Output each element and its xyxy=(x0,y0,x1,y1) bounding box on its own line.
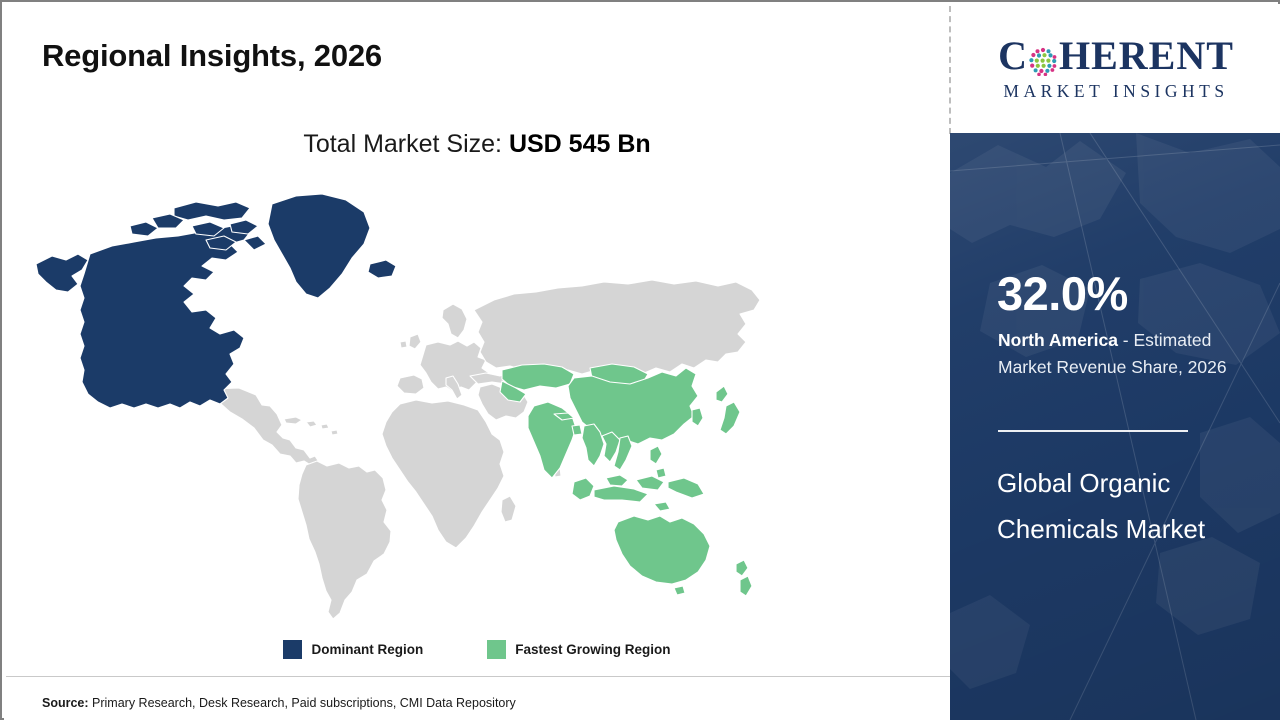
market-name: Global Organic Chemicals Market xyxy=(997,461,1247,552)
fastest-growing-regions xyxy=(500,364,752,596)
total-market-size: Total Market Size: USD 545 Bn xyxy=(4,130,950,159)
right-panel: 32.0% North America - Estimated Market R… xyxy=(950,133,1280,720)
brand-name-part1: C xyxy=(998,36,1028,76)
footer-divider xyxy=(6,676,952,677)
brand-name-part2: HERENT xyxy=(1059,36,1234,76)
legend-item-dominant[interactable]: Dominant Region xyxy=(283,640,423,659)
legend-item-fastest-growing[interactable]: Fastest Growing Region xyxy=(487,640,670,659)
source-text: Primary Research, Desk Research, Paid su… xyxy=(89,696,516,710)
world-map-svg xyxy=(34,182,834,622)
brand-tagline: MARKET INSIGHTS xyxy=(1003,81,1228,102)
legend-swatch-fastest-growing-icon xyxy=(487,640,506,659)
market-size-label: Total Market Size: xyxy=(303,130,509,158)
share-percentage: 32.0% xyxy=(997,270,1128,317)
infographic-frame: Regional Insights, 2026 Total Market Siz… xyxy=(0,0,1280,720)
dominant-regions xyxy=(36,194,396,408)
brand-logo[interactable]: C xyxy=(952,4,1280,133)
legend-swatch-dominant-icon xyxy=(283,640,302,659)
market-size-value: USD 545 Bn xyxy=(509,130,651,158)
map-legend: Dominant Region Fastest Growing Region xyxy=(4,640,950,659)
share-description: North America - Estimated Market Revenue… xyxy=(998,327,1264,380)
page-title: Regional Insights, 2026 xyxy=(42,38,382,74)
legend-label-dominant: Dominant Region xyxy=(311,642,423,657)
source-note: Source: Primary Research, Desk Research,… xyxy=(42,696,516,710)
right-panel-content: 32.0% North America - Estimated Market R… xyxy=(950,133,1280,720)
right-panel-divider xyxy=(998,430,1188,432)
left-panel: Regional Insights, 2026 Total Market Siz… xyxy=(4,4,950,720)
globe-dots-icon xyxy=(1028,43,1058,73)
share-region: North America xyxy=(998,330,1118,350)
legend-label-fastest-growing: Fastest Growing Region xyxy=(515,642,670,657)
brand-name: C xyxy=(998,36,1234,76)
source-label: Source: xyxy=(42,696,89,710)
panel-divider xyxy=(949,6,951,134)
world-map[interactable] xyxy=(34,182,834,622)
